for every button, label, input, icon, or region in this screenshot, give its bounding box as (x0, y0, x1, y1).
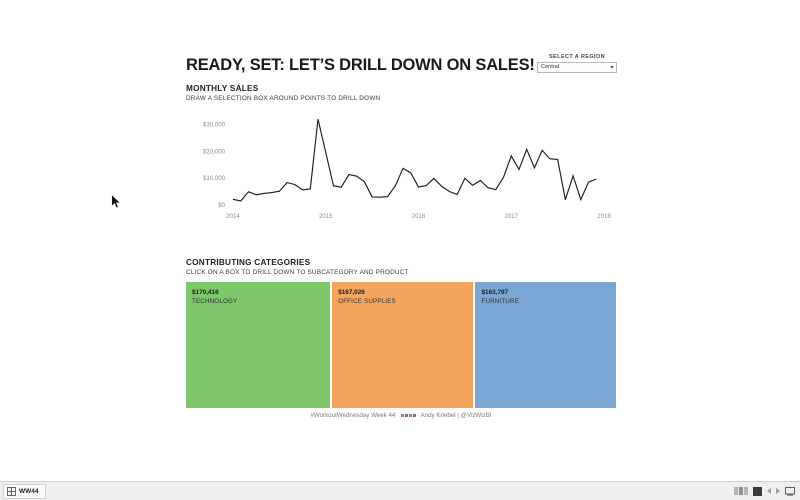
treemap-box-label: TECHNOLOGY (192, 298, 237, 305)
region-selector-label: SELECT A REGION (537, 54, 617, 60)
footer-dot (401, 414, 404, 417)
x-tick-label: 2015 (319, 213, 333, 220)
arrow-left-icon[interactable] (767, 488, 771, 494)
page-title: READY, SET: LET’S DRILL DOWN ON SALES! (186, 56, 535, 75)
footer-dot (405, 414, 408, 417)
footer-dot (409, 414, 412, 417)
x-tick-label: 2018 (597, 213, 611, 220)
x-tick-label: 2016 (412, 213, 426, 220)
x-tick-label: 2017 (504, 213, 518, 220)
footer-dots-icon (400, 414, 416, 417)
monthly-sales-title: MONTHLY SALES (186, 84, 616, 93)
treemap-box-value: $167,026 (338, 289, 365, 296)
y-tick-label: $30,000 (203, 121, 226, 128)
footer-left-text: #WorkoutWednesday Week 44 (310, 412, 395, 419)
category-treemap: $170,416TECHNOLOGY$167,026OFFICE SUPPLIE… (186, 282, 616, 408)
region-dropdown-value: Central (541, 65, 559, 71)
dashboard-header: READY, SET: LET’S DRILL DOWN ON SALES! S… (186, 42, 616, 78)
treemap-box-label: OFFICE SUPPLIES (338, 298, 396, 305)
x-tick-label: 2014 (226, 213, 240, 220)
desktop: READY, SET: LET’S DRILL DOWN ON SALES! S… (0, 0, 800, 481)
footer-right-text: Andy Kriebel | @VizWizBI (421, 412, 492, 419)
region-dropdown[interactable]: Central (537, 62, 617, 73)
treemap-box-value: $170,416 (192, 289, 219, 296)
treemap-box-value: $163,797 (481, 289, 508, 296)
y-tick-label: $20,000 (203, 148, 226, 155)
monthly-sales-section: MONTHLY SALES DRAW A SELECTION BOX AROUN… (186, 84, 616, 223)
taskbar-tray (734, 487, 795, 496)
treemap-box-label: FURNITURE (481, 298, 519, 305)
categories-title: CONTRIBUTING CATEGORIES (186, 258, 616, 267)
taskbar: WW44 (0, 481, 800, 500)
dashboard-footer: #WorkoutWednesday Week 44 Andy Kriebel |… (186, 412, 616, 419)
taskbar-window-label: WW44 (19, 488, 39, 495)
y-axis-ticks: $0$10,000$20,000$30,000 (203, 121, 226, 209)
treemap-box[interactable]: $163,797FURNITURE (475, 282, 616, 408)
footer-dot (413, 414, 416, 417)
y-tick-label: $10,000 (203, 175, 226, 182)
treemap-box[interactable]: $170,416TECHNOLOGY (186, 282, 332, 408)
chevron-down-icon (610, 66, 614, 69)
x-axis-ticks: 20142015201620172018 (226, 213, 611, 220)
monthly-sales-chart[interactable]: $0$10,000$20,000$30,000 2014201520162017… (186, 108, 616, 223)
line-chart-svg[interactable]: $0$10,000$20,000$30,000 2014201520162017… (186, 108, 616, 223)
dashboard-canvas: READY, SET: LET’S DRILL DOWN ON SALES! S… (186, 42, 616, 434)
sales-line-path (233, 119, 596, 201)
categories-subtitle: CLICK ON A BOX TO DRILL DOWN TO SUBCATEG… (186, 269, 616, 276)
workspace-pager-icon[interactable] (734, 487, 748, 495)
taskbar-window-button[interactable]: WW44 (3, 484, 46, 499)
arrow-right-icon[interactable] (776, 488, 780, 494)
window-grid-icon (7, 487, 16, 496)
monthly-sales-subtitle: DRAW A SELECTION BOX AROUND POINTS TO DR… (186, 95, 616, 102)
mouse-cursor (111, 194, 122, 209)
region-selector: SELECT A REGION Central (537, 54, 617, 73)
treemap-box[interactable]: $167,026OFFICE SUPPLIES (332, 282, 475, 408)
monitor-icon[interactable] (785, 487, 795, 496)
y-tick-label: $0 (218, 202, 225, 209)
contributing-categories-section: CONTRIBUTING CATEGORIES CLICK ON A BOX T… (186, 258, 616, 408)
workspace-active-icon[interactable] (753, 487, 762, 496)
